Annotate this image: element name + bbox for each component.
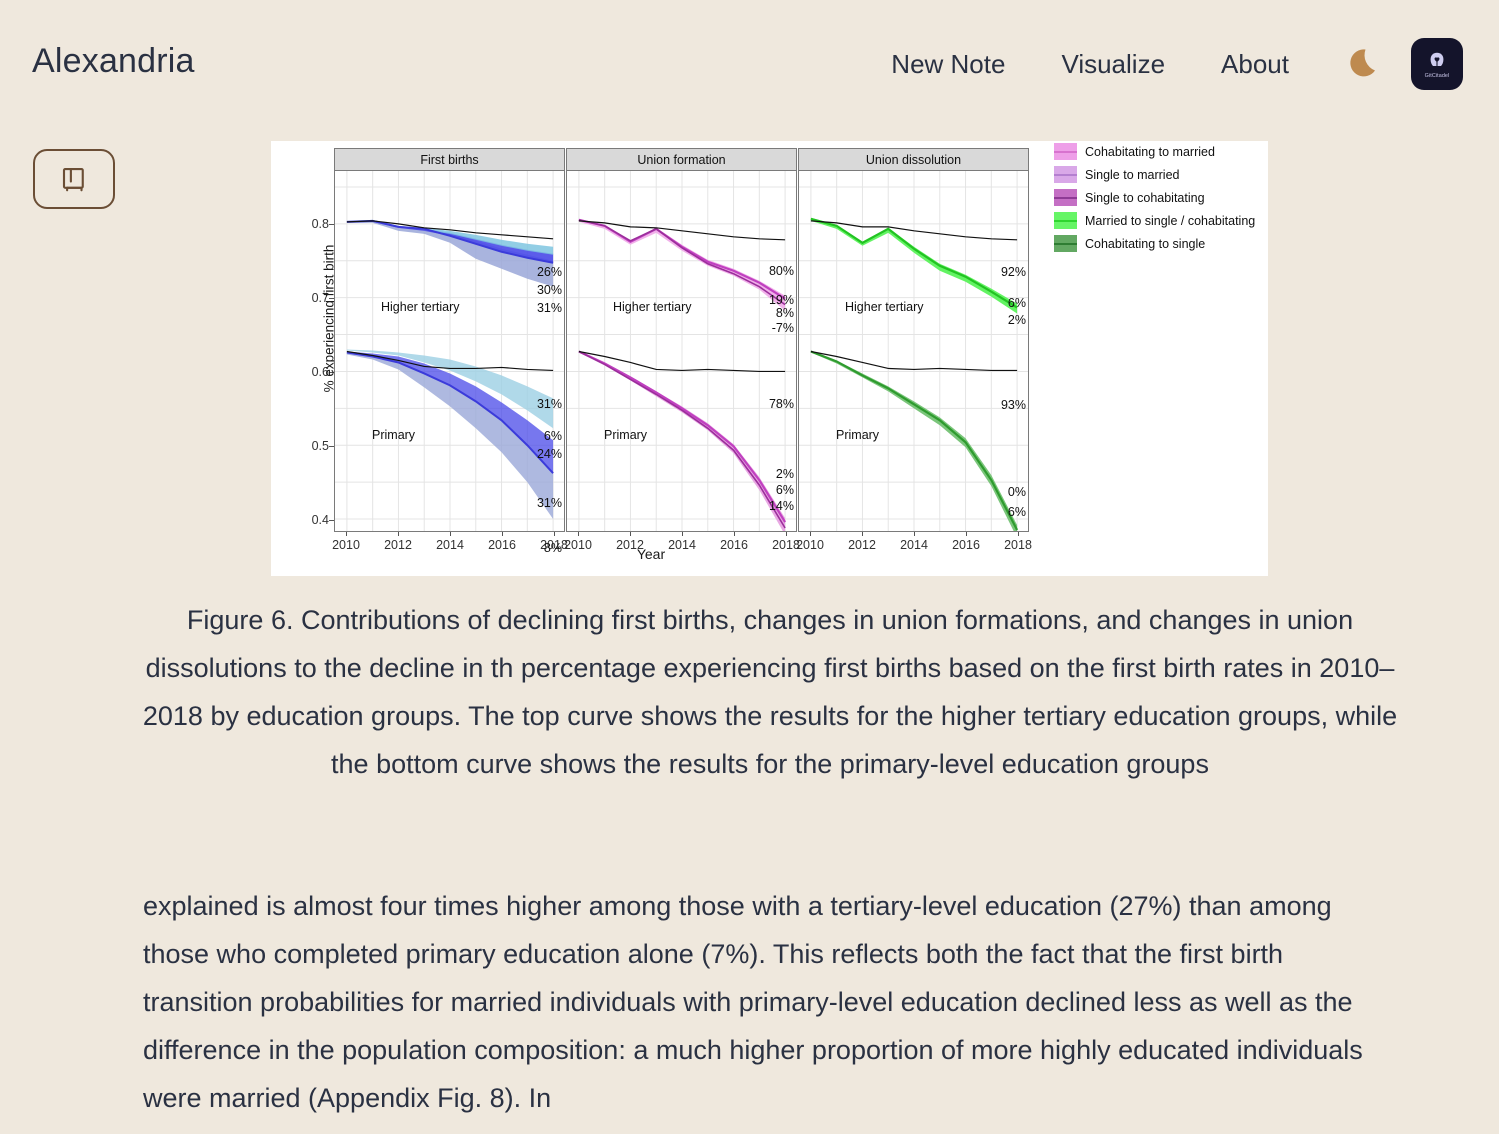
legend-label: Single to married: [1085, 168, 1180, 182]
x-axis-ticks-first-births: 2010 2012 2014 2016 2018: [334, 536, 565, 554]
reader-toggle-button[interactable]: [33, 149, 115, 209]
pct-pr-1: 6%: [544, 429, 562, 443]
legend-label: Single to cohabitating: [1085, 191, 1205, 205]
legend-item-single-to-cohabitating: Single to cohabitating: [1054, 186, 1266, 209]
nav-about[interactable]: About: [1193, 36, 1317, 92]
pct-ht-1: 30%: [537, 283, 562, 297]
body-paragraph: explained is almost four times higher am…: [143, 882, 1393, 1122]
legend-item-cohabitating-to-married: Cohabitating to married: [1054, 141, 1266, 163]
pct-ht-1: 19%: [769, 293, 794, 307]
nav-new-note[interactable]: New Note: [863, 36, 1033, 92]
pct-ht-0: 92%: [1001, 265, 1026, 279]
pct-ht-2: 2%: [1008, 313, 1026, 327]
figure-caption: Figure 6. Contributions of declining fir…: [140, 596, 1400, 788]
group-label-higher-tertiary: Higher tertiary: [845, 300, 924, 314]
x-tick-2018: 2018: [1004, 538, 1032, 552]
legend-swatch-icon: [1054, 189, 1077, 206]
group-label-primary: Primary: [836, 428, 879, 442]
legend-label: Cohabitating to married: [1085, 145, 1215, 159]
x-tick-2016: 2016: [952, 538, 980, 552]
brand-title: Alexandria: [32, 44, 195, 78]
helmet-icon: [1426, 50, 1448, 72]
panel-plot-first-births: [334, 171, 565, 532]
book-icon: [59, 164, 89, 194]
x-tick-2016: 2016: [720, 538, 748, 552]
pct-ht-3: -7%: [772, 321, 794, 335]
page-root: Alexandria New Note Visualize About GitC…: [0, 0, 1499, 1134]
pct-ht-1: 6%: [1008, 296, 1026, 310]
pct-pr-2: 6%: [776, 483, 794, 497]
pct-pr-2: 24%: [537, 447, 562, 461]
panel-plot-union-formation: [566, 171, 797, 532]
pct-pr-2: 6%: [1008, 505, 1026, 519]
gitcitadel-app-badge[interactable]: GitCitadel: [1411, 38, 1463, 90]
legend-label: Cohabitating to single: [1085, 237, 1205, 251]
theme-toggle-button[interactable]: [1337, 36, 1393, 92]
pct-pr-0: 93%: [1001, 398, 1026, 412]
x-axis-ticks-union-dissolution: 2010 2012 2014 2016 2018: [798, 536, 1029, 554]
group-label-higher-tertiary: Higher tertiary: [381, 300, 460, 314]
x-tick-2010: 2010: [332, 538, 360, 552]
group-label-primary: Primary: [604, 428, 647, 442]
chart-legend: Cohabitating to married Single to marrie…: [1054, 141, 1266, 259]
x-tick-2014: 2014: [436, 538, 464, 552]
legend-item-married-to-single-cohabitating: Married to single / cohabitating: [1054, 209, 1266, 232]
moon-icon: [1345, 44, 1385, 84]
app-badge-label: GitCitadel: [1425, 73, 1450, 79]
pct-pr-0: 31%: [537, 397, 562, 411]
panel-union-dissolution: Union dissolution: [798, 148, 1029, 532]
legend-swatch-icon: [1054, 212, 1077, 229]
x-tick-2010: 2010: [564, 538, 592, 552]
pct-pr-1: 2%: [776, 467, 794, 481]
group-label-primary: Primary: [372, 428, 415, 442]
pct-pr-3: 31%: [537, 496, 562, 510]
pct-pr-4: 8%: [544, 541, 562, 555]
panel-first-births: First births: [334, 148, 565, 532]
panel-plot-union-dissolution: [798, 171, 1029, 532]
x-tick-2012: 2012: [848, 538, 876, 552]
pct-ht-2: 8%: [776, 306, 794, 320]
legend-swatch-icon: [1054, 235, 1077, 252]
figure-image: 0.8 0.7 0.6 0.5 0.4 % experiencing first…: [271, 141, 1268, 576]
legend-label: Married to single / cohabitating: [1085, 214, 1255, 228]
legend-swatch-icon: [1054, 143, 1077, 160]
x-tick-2014: 2014: [900, 538, 928, 552]
pct-pr-3: 14%: [769, 499, 794, 513]
main-nav: New Note Visualize About GitCitadel: [863, 36, 1463, 92]
x-tick-2016: 2016: [488, 538, 516, 552]
x-axis-ticks-union-formation: 2010 2012 2014 2016 2018: [566, 536, 797, 554]
nav-visualize[interactable]: Visualize: [1033, 36, 1193, 92]
legend-item-single-to-married: Single to married: [1054, 163, 1266, 186]
legend-item-cohabitating-to-single: Cohabitating to single: [1054, 232, 1266, 255]
panel-title-union-dissolution: Union dissolution: [798, 148, 1029, 171]
pct-ht-2: 31%: [537, 301, 562, 315]
x-tick-2012: 2012: [616, 538, 644, 552]
y-tick-4: 0.4: [279, 513, 329, 527]
y-tick-3: 0.5: [279, 439, 329, 453]
panel-title-first-births: First births: [334, 148, 565, 171]
pct-ht-0: 80%: [769, 264, 794, 278]
x-tick-2010: 2010: [796, 538, 824, 552]
chart-canvas: 0.8 0.7 0.6 0.5 0.4 % experiencing first…: [271, 141, 1268, 576]
y-axis: 0.8 0.7 0.6 0.5 0.4: [271, 141, 329, 541]
panel-title-union-formation: Union formation: [566, 148, 797, 171]
pct-pr-1: 0%: [1008, 485, 1026, 499]
top-header: Alexandria New Note Visualize About GitC…: [0, 0, 1499, 120]
legend-swatch-icon: [1054, 166, 1077, 183]
x-tick-2014: 2014: [668, 538, 696, 552]
group-label-higher-tertiary: Higher tertiary: [613, 300, 692, 314]
pct-ht-0: 26%: [537, 265, 562, 279]
panel-union-formation: Union formation: [566, 148, 797, 532]
pct-pr-0: 78%: [769, 397, 794, 411]
x-tick-2012: 2012: [384, 538, 412, 552]
